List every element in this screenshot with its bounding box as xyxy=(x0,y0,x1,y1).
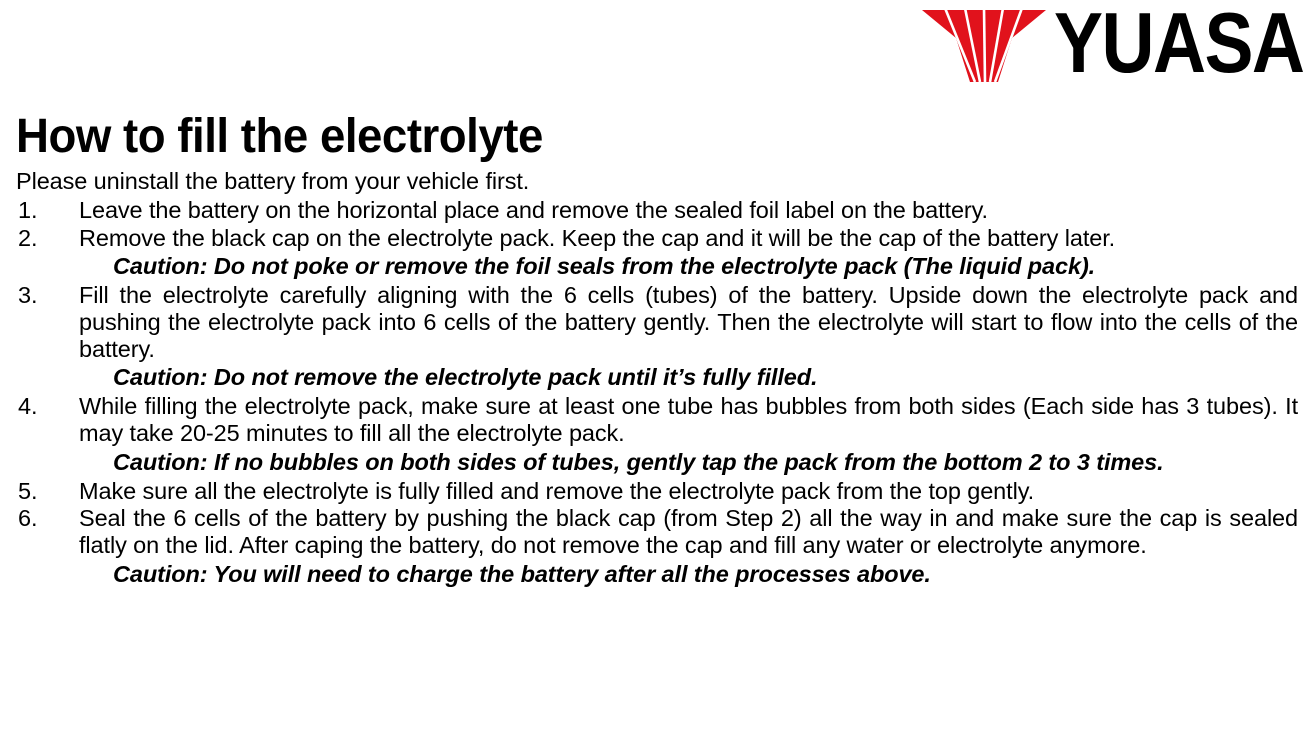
yuasa-logo: YUASA xyxy=(920,6,1303,84)
step-item-1: 1. Leave the battery on the horizontal p… xyxy=(16,197,1298,224)
yuasa-funnel-mark-icon xyxy=(920,8,1048,82)
step-item-3: 3. Fill the electrolyte carefully aligni… xyxy=(16,282,1298,362)
step-number: 6. xyxy=(18,505,37,532)
caution-after-step-6: Caution: You will need to charge the bat… xyxy=(16,561,1298,588)
step-item-2: 2. Remove the black cap on the electroly… xyxy=(16,225,1298,252)
instructions-body: Please uninstall the battery from your v… xyxy=(16,168,1298,590)
step-item-4: 4. While filling the electrolyte pack, m… xyxy=(16,393,1298,447)
step-text: Leave the battery on the horizontal plac… xyxy=(79,197,1298,224)
step-number: 5. xyxy=(18,478,37,505)
step-text: Remove the black cap on the electrolyte … xyxy=(79,225,1298,252)
step-text: While filling the electrolyte pack, make… xyxy=(79,393,1298,447)
step-number: 1. xyxy=(18,197,37,224)
step-item-6: 6. Seal the 6 cells of the battery by pu… xyxy=(16,505,1298,559)
step-text: Make sure all the electrolyte is fully f… xyxy=(79,478,1298,505)
caution-after-step-3: Caution: Do not remove the electrolyte p… xyxy=(16,364,1298,391)
caution-after-step-2: Caution: Do not poke or remove the foil … xyxy=(16,253,1298,280)
step-text: Seal the 6 cells of the battery by pushi… xyxy=(79,505,1298,559)
step-text: Fill the electrolyte carefully aligning … xyxy=(79,282,1298,362)
step-number: 3. xyxy=(18,282,37,309)
step-number: 2. xyxy=(18,225,37,252)
page-title: How to fill the electrolyte xyxy=(16,111,543,164)
caution-after-step-4: Caution: If no bubbles on both sides of … xyxy=(16,449,1298,476)
intro-text: Please uninstall the battery from your v… xyxy=(16,168,1298,195)
step-item-5: 5. Make sure all the electrolyte is full… xyxy=(16,478,1298,505)
yuasa-wordmark: YUASA xyxy=(1054,10,1308,80)
step-number: 4. xyxy=(18,393,37,420)
